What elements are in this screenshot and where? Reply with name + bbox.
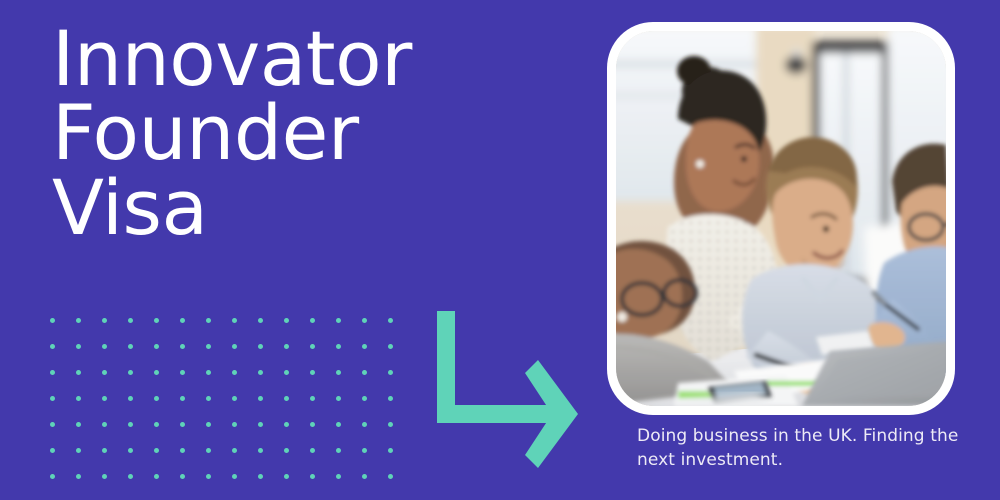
- dot: [284, 318, 289, 323]
- dot: [50, 344, 55, 349]
- dot: [258, 344, 263, 349]
- dot: [154, 318, 159, 323]
- dot: [102, 422, 107, 427]
- dot: [284, 448, 289, 453]
- dot: [50, 318, 55, 323]
- dot: [362, 318, 367, 323]
- dot: [128, 448, 133, 453]
- dot: [336, 474, 341, 479]
- dot: [206, 318, 211, 323]
- dot: [388, 396, 393, 401]
- dot: [76, 344, 81, 349]
- dot: [362, 370, 367, 375]
- innovator-founder-visa-banner: Innovator Founder Visa: [0, 0, 1000, 500]
- dot: [180, 474, 185, 479]
- dot: [206, 344, 211, 349]
- dot: [102, 448, 107, 453]
- dot: [232, 448, 237, 453]
- dot: [180, 396, 185, 401]
- dot: [232, 474, 237, 479]
- dot: [388, 474, 393, 479]
- dot: [206, 448, 211, 453]
- dot: [336, 318, 341, 323]
- dot: [206, 396, 211, 401]
- dot: [180, 422, 185, 427]
- page-title-line-3: Visa: [52, 171, 612, 245]
- dot: [258, 448, 263, 453]
- dot: [76, 370, 81, 375]
- dot: [154, 370, 159, 375]
- dot: [76, 474, 81, 479]
- dot: [336, 370, 341, 375]
- dot: [362, 474, 367, 479]
- dot: [388, 370, 393, 375]
- dot: [128, 344, 133, 349]
- dot: [310, 422, 315, 427]
- dot: [362, 448, 367, 453]
- dot: [284, 396, 289, 401]
- dot: [284, 370, 289, 375]
- dot: [154, 344, 159, 349]
- dot: [180, 370, 185, 375]
- dot: [154, 422, 159, 427]
- dot: [310, 448, 315, 453]
- dot: [336, 344, 341, 349]
- dot: [232, 344, 237, 349]
- dot: [128, 370, 133, 375]
- turn-right-arrow-icon: [430, 305, 590, 485]
- dot: [258, 396, 263, 401]
- dot: [180, 318, 185, 323]
- dot: [50, 474, 55, 479]
- dot: [388, 344, 393, 349]
- dot: [76, 422, 81, 427]
- dot: [232, 422, 237, 427]
- dot: [128, 474, 133, 479]
- dot: [50, 370, 55, 375]
- dot: [180, 448, 185, 453]
- dot: [310, 344, 315, 349]
- dot: [362, 396, 367, 401]
- dot: [76, 396, 81, 401]
- dot: [362, 344, 367, 349]
- dot: [310, 396, 315, 401]
- dot: [284, 344, 289, 349]
- dot: [128, 318, 133, 323]
- dot: [284, 422, 289, 427]
- dot-grid-pattern: [50, 318, 392, 484]
- dot: [50, 396, 55, 401]
- dot: [310, 370, 315, 375]
- page-title-line-2: Founder: [52, 96, 612, 170]
- dot: [128, 396, 133, 401]
- dot: [336, 422, 341, 427]
- hero-photo-card: [607, 22, 955, 415]
- dot: [362, 422, 367, 427]
- dot: [102, 344, 107, 349]
- dot: [128, 422, 133, 427]
- dot: [336, 396, 341, 401]
- dot: [154, 474, 159, 479]
- dot: [388, 422, 393, 427]
- dot: [102, 370, 107, 375]
- dot: [258, 422, 263, 427]
- dot: [232, 318, 237, 323]
- dot: [310, 318, 315, 323]
- dot: [258, 474, 263, 479]
- dot: [388, 318, 393, 323]
- dot: [232, 370, 237, 375]
- dot: [206, 422, 211, 427]
- dot: [102, 474, 107, 479]
- dot: [206, 474, 211, 479]
- dot: [102, 318, 107, 323]
- dot: [154, 448, 159, 453]
- dot: [154, 396, 159, 401]
- dot: [258, 370, 263, 375]
- dot: [50, 422, 55, 427]
- dot: [102, 396, 107, 401]
- page-title-line-1: Innovator: [52, 22, 612, 96]
- dot: [258, 318, 263, 323]
- dot: [50, 448, 55, 453]
- dot: [76, 318, 81, 323]
- hero-photo: [616, 31, 946, 406]
- dot: [232, 396, 237, 401]
- dot: [336, 448, 341, 453]
- caption-text: Doing business in the UK. Finding the ne…: [637, 424, 967, 472]
- dot: [284, 474, 289, 479]
- page-title: Innovator Founder Visa: [52, 22, 612, 245]
- dot: [310, 474, 315, 479]
- dot: [180, 344, 185, 349]
- dot: [388, 448, 393, 453]
- dot: [206, 370, 211, 375]
- dot: [76, 448, 81, 453]
